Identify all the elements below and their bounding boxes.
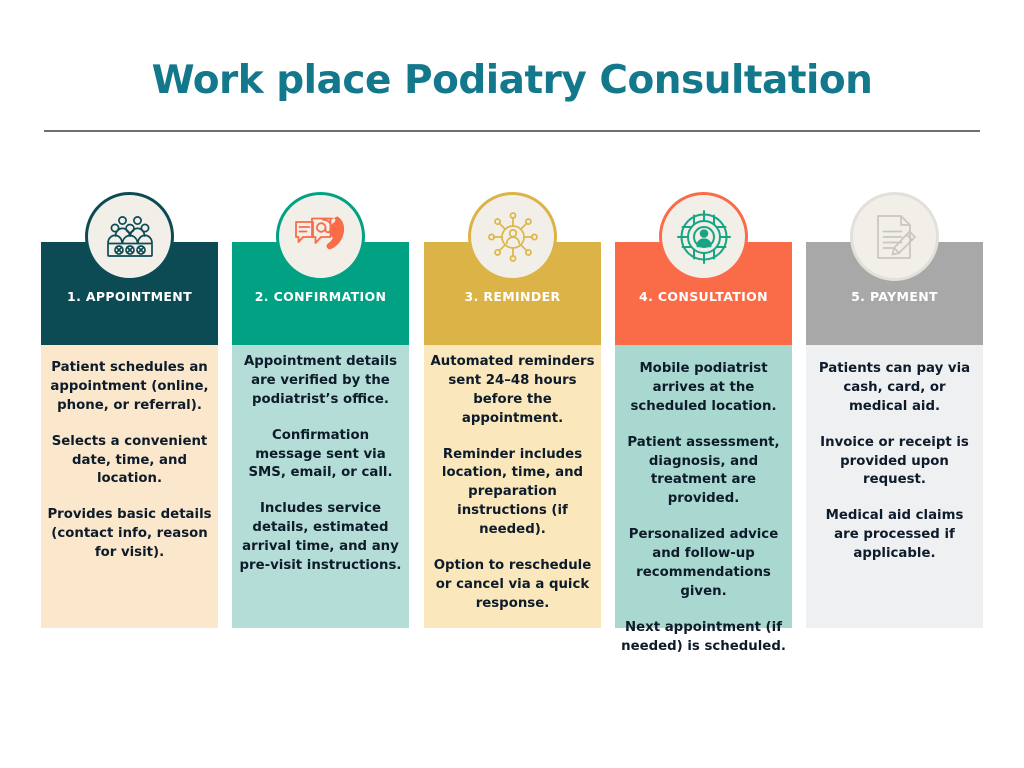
step-paragraph: Appointment details are verified by the …	[238, 353, 403, 410]
step-paragraph: Mobile podiatrist arrives at the schedul…	[621, 360, 786, 417]
people-group-icon	[85, 192, 174, 281]
step-paragraph: Option to reschedule or cancel via a qui…	[430, 557, 595, 614]
process-step-reminder[interactable]: 3. REMINDER Automated reminders sent 24–…	[424, 192, 601, 628]
step-body-confirmation: Appointment details are verified by the …	[232, 345, 409, 628]
step-paragraph: Automated reminders sent 24–48 hours bef…	[430, 353, 595, 429]
process-steps-row: 1. APPOINTMENT Patient schedules an appo…	[41, 192, 983, 628]
step-paragraph: Medical aid claims are processed if appl…	[812, 507, 977, 564]
step-paragraph: Next appointment (if needed) is schedule…	[621, 619, 786, 657]
step-label-confirmation: 2. CONFIRMATION	[232, 289, 409, 304]
target-person-icon	[659, 192, 748, 281]
page-title: Work place Podiatry Consultation	[0, 58, 1024, 103]
step-paragraph: Invoice or receipt is provided upon requ…	[812, 434, 977, 491]
process-step-consultation[interactable]: 4. CONSULTATION Mobile podiatrist arrive…	[615, 192, 792, 628]
process-step-payment[interactable]: 5. PAYMENT Patients can pay via cash, ca…	[806, 192, 983, 628]
step-paragraph: Personalized advice and follow-up recomm…	[621, 526, 786, 602]
step-label-reminder: 3. REMINDER	[424, 289, 601, 304]
step-paragraph: Patients can pay via cash, card, or medi…	[812, 360, 977, 417]
phone-chat-email-icon	[276, 192, 365, 281]
process-step-confirmation[interactable]: 2. CONFIRMATION Appointment details are …	[232, 192, 409, 628]
step-paragraph: Includes service details, estimated arri…	[238, 500, 403, 576]
title-divider	[44, 130, 980, 132]
step-label-consultation: 4. CONSULTATION	[615, 289, 792, 304]
step-paragraph: Provides basic details (contact info, re…	[47, 506, 212, 563]
step-paragraph: Patient assessment, diagnosis, and treat…	[621, 434, 786, 510]
step-label-appointment: 1. APPOINTMENT	[41, 289, 218, 304]
process-step-appointment[interactable]: 1. APPOINTMENT Patient schedules an appo…	[41, 192, 218, 628]
step-body-payment: Patients can pay via cash, card, or medi…	[806, 345, 983, 628]
step-paragraph: Reminder includes location, time, and pr…	[430, 446, 595, 540]
step-body-consultation: Mobile podiatrist arrives at the schedul…	[615, 345, 792, 628]
infographic-canvas: Work place Podiatry Consultation 1. APPO…	[0, 0, 1024, 768]
step-paragraph: Patient schedules an appointment (online…	[47, 359, 212, 416]
network-hub-person-icon	[468, 192, 557, 281]
step-paragraph: Confirmation message sent via SMS, email…	[238, 427, 403, 484]
step-paragraph: Selects a convenient date, time, and loc…	[47, 433, 212, 490]
step-label-payment: 5. PAYMENT	[806, 289, 983, 304]
invoice-document-pencil-icon	[850, 192, 939, 281]
step-body-reminder: Automated reminders sent 24–48 hours bef…	[424, 345, 601, 628]
step-body-appointment: Patient schedules an appointment (online…	[41, 345, 218, 628]
